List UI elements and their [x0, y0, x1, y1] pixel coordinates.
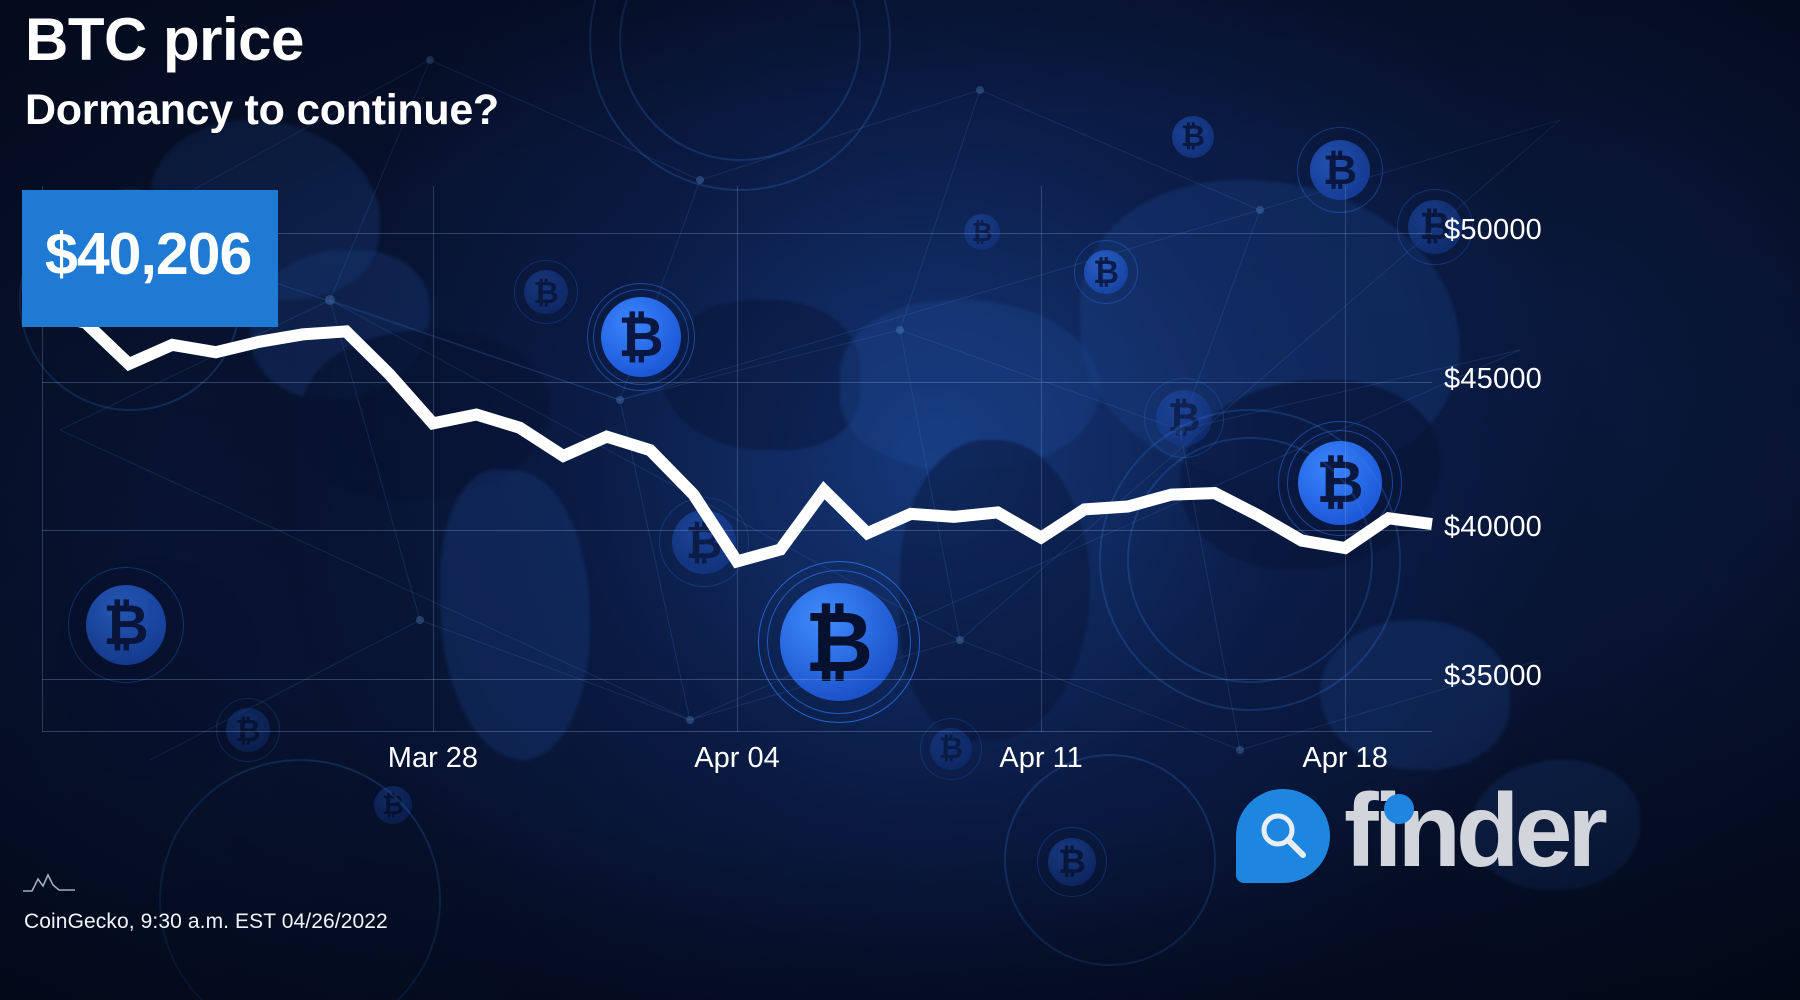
- current-price-value: $40,206: [45, 220, 251, 288]
- finder-logo[interactable]: finder: [1236, 776, 1784, 896]
- x-axis-tick-label: Apr 18: [1302, 742, 1387, 775]
- data-source-attribution: CoinGecko, 9:30 a.m. EST 04/26/2022: [24, 910, 388, 934]
- sparkline-icon: [22, 869, 76, 895]
- current-price-badge: $40,206: [22, 190, 278, 327]
- infographic-canvas: ₿ ₿ ₿ ₿ ₿ ₿ ₿ ₿ ₿ ₿: [0, 0, 1800, 1000]
- x-axis-tick-label: Apr 04: [694, 742, 779, 775]
- brand-wordmark: finder: [1344, 773, 1603, 889]
- x-axis-tick-label: Mar 28: [388, 742, 478, 775]
- x-axis-tick-label: Apr 11: [999, 742, 1082, 775]
- magnifier-drop-icon: [1236, 789, 1330, 883]
